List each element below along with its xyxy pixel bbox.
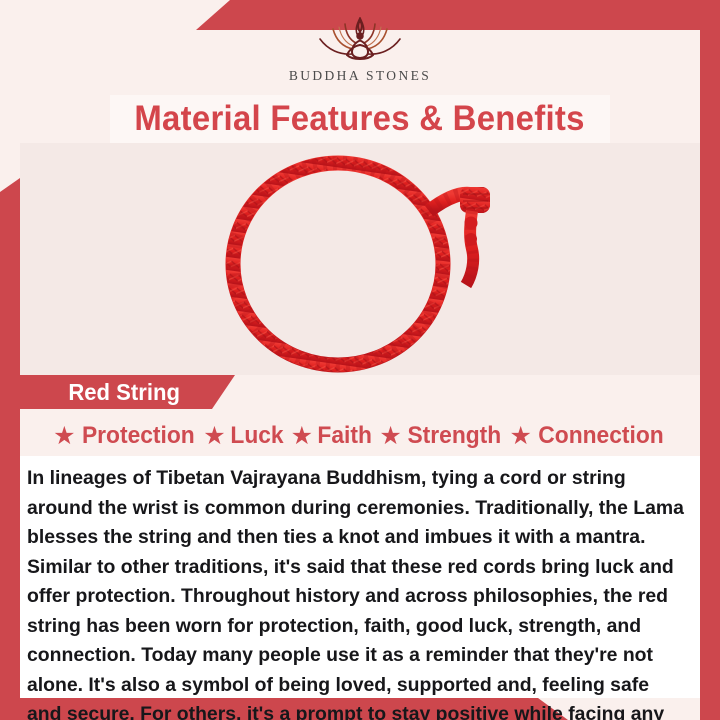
- feature-label: Strength: [407, 422, 501, 450]
- feature-list: ★ Protection ★ Luck ★ Faith ★ Strength ★…: [20, 416, 700, 456]
- feature-label: Luck: [230, 422, 283, 450]
- infographic-canvas: BUDDHA STONES Material Features & Benefi…: [0, 0, 720, 720]
- feature-label: Protection: [81, 422, 194, 450]
- red-braided-cord-bracelet-icon: [20, 149, 700, 375]
- star-icon: ★: [509, 424, 531, 449]
- decorative-band-left: [0, 178, 20, 720]
- star-icon: ★: [53, 424, 75, 449]
- feature-item-connection: ★ Connection: [509, 422, 666, 450]
- star-icon: ★: [379, 424, 401, 449]
- lotus-meditation-icon: [308, 14, 412, 66]
- feature-item-protection: ★ Protection: [53, 422, 197, 450]
- decorative-band-right: [700, 0, 720, 720]
- product-name-label: Red String: [68, 379, 180, 406]
- feature-item-luck: ★ Luck: [203, 422, 284, 450]
- description-panel: In lineages of Tibetan Vajrayana Buddhis…: [20, 456, 700, 698]
- feature-item-strength: ★ Strength: [379, 422, 503, 450]
- star-icon: ★: [291, 424, 313, 449]
- title-banner: Material Features & Benefits: [110, 95, 610, 143]
- feature-label: Faith: [317, 422, 371, 450]
- feature-label: Connection: [538, 422, 663, 450]
- page-title: Material Features & Benefits: [135, 99, 585, 139]
- product-name-banner: Red String: [20, 375, 235, 409]
- brand-logo: BUDDHA STONES: [0, 14, 720, 92]
- description-text: In lineages of Tibetan Vajrayana Buddhis…: [27, 464, 686, 720]
- product-image: [20, 143, 700, 375]
- star-icon: ★: [203, 424, 225, 449]
- feature-item-faith: ★ Faith: [291, 422, 374, 450]
- brand-name: BUDDHA STONES: [289, 68, 431, 84]
